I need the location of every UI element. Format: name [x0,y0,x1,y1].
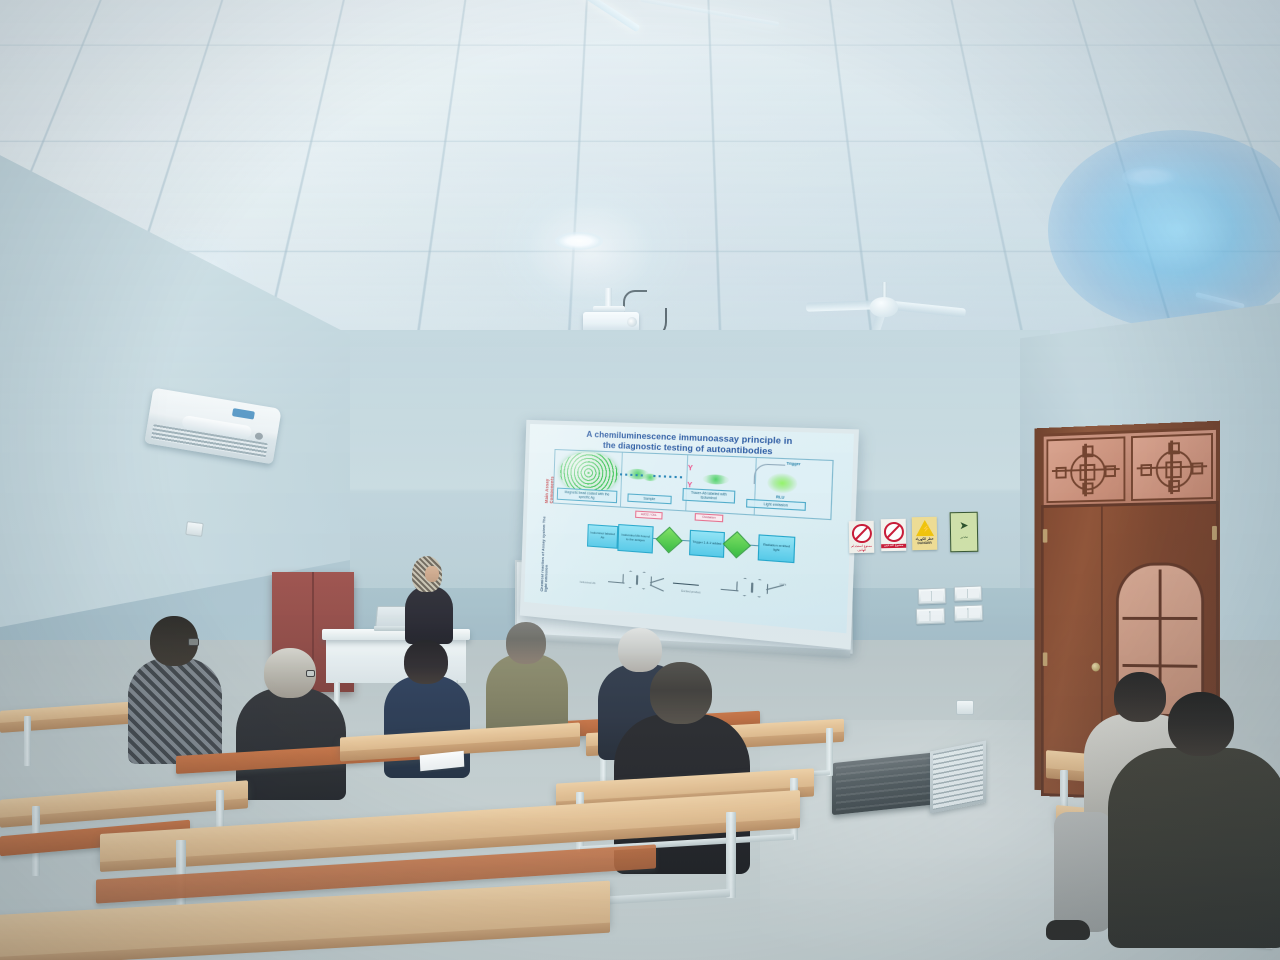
fan-hub [870,297,898,317]
bond [650,578,664,583]
transom-nub [1082,445,1093,457]
sign-emergency-notice: ➤ تحذير [950,512,979,552]
window-mullion [1123,664,1198,668]
presenter-face [425,566,439,582]
projection-screen: A chemiluminescence immunoassay principl… [524,424,854,642]
transom-nub [1168,442,1180,454]
sign-no-smoking: ممنوع التدخين [881,519,907,551]
transom-pane [1046,436,1125,503]
presentation-slide: A chemiluminescence immunoassay principl… [524,424,854,633]
attendee-head [404,640,448,684]
door-hinge [1212,526,1217,540]
light-switch-panel[interactable] [954,604,984,621]
transom-square-motif [1165,461,1181,478]
flow-callout-2: Oxidation [695,513,724,523]
no-smoking-icon [883,522,903,542]
slide-vertical-label-bottom: Chemical reaction of Assay system The li… [540,511,551,592]
flow-box-3: Trigger 1 & 2 added [689,530,725,558]
door-transom [1041,427,1219,509]
reaction-arrow [673,583,699,586]
glasses [188,638,199,646]
door-hinge [1043,529,1048,543]
attendee-head [1114,672,1166,722]
desk-leg [24,716,31,766]
attendee-torso [236,688,346,800]
sign-content: ➤ تحذير [951,513,978,551]
flow-box-1: Isoluminol labeled Ab [587,524,618,549]
window-mullion [1123,617,1198,620]
attendee-trousers [1054,812,1112,932]
trigger-label: Trigger [786,461,800,466]
attendee-torso [1108,748,1280,948]
attendee-head [618,628,662,672]
attendee-head [650,662,712,724]
transom-nub [1056,467,1067,479]
chem-label: Excited product [681,590,700,595]
attendee-torso [128,658,222,764]
transom-nub [1082,482,1093,494]
classroom-photo: A chemiluminescence immunoassay principl… [0,0,1280,960]
prohibition-icon [851,524,871,544]
wall-socket[interactable] [185,521,204,537]
transom-square-motif [1080,463,1096,480]
vent-louvers [933,744,983,810]
flow-box-2: Isoluminol Ab bound to the antigen [617,524,653,554]
benzene-ring [622,570,638,589]
door-handle[interactable] [1092,663,1100,672]
transom-nub [1105,465,1116,477]
flow-callout-1: H2O2 / OH- [635,511,663,520]
transom-nub [1192,462,1204,474]
presenter-body [405,586,453,644]
transom-nub [1141,464,1152,476]
bond [608,581,624,583]
transom-pane [1131,433,1213,501]
light-switch-panel[interactable] [918,588,947,605]
flow-box-4: Radiation emitted light [758,534,796,563]
sign-content: ممنوع استخدام الهاتف [849,521,875,553]
sign-caption: ممنوع التدخين [881,544,906,548]
sign-caption: ممنوع استخدام الهاتف [849,545,874,553]
downlight [1122,166,1180,188]
sign-caption: تحذير [960,536,968,540]
lightning-bolt-icon: ⚡ [922,526,931,533]
glasses [306,670,315,677]
chem-label: Light [780,583,787,587]
door-hinge [1043,652,1048,666]
bond [650,584,664,591]
flow-decision-2 [723,531,751,558]
sign-electrical-danger: ⚡ خطر الكهرباء DANGER [912,517,938,550]
light-switch-panel[interactable] [916,607,946,624]
benzene-ring [636,571,652,590]
downlight [555,232,603,250]
transom-nub [1168,480,1180,492]
benzene-ring [736,577,754,597]
attendee-head [1168,692,1234,756]
emergency-glyph-icon: ➤ [959,521,968,532]
desk-leg [826,728,833,776]
chem-label: Isoluminol-Ab [580,581,596,585]
flow-decision-1 [656,527,683,554]
sign-caption: خطر الكهرباء DANGER [912,538,937,546]
attendee-head [506,622,546,664]
antibody-icon: Y [688,465,693,473]
wall-socket[interactable] [956,700,974,715]
rlu-label: RLU [776,495,785,500]
attendee-shoe [1046,920,1090,940]
warning-triangle-icon: ⚡ [915,520,933,536]
light-switch-panel[interactable] [954,586,983,602]
sign-content: ⚡ خطر الكهرباء DANGER [912,517,938,550]
sign-content: ممنوع التدخين [881,519,907,551]
bond [721,589,739,592]
desk-leg [726,812,736,898]
panel-divider [620,453,623,507]
wall-vent [930,741,986,814]
sign-no-mobile-phones: ممنوع استخدام الهاتف [849,521,875,553]
